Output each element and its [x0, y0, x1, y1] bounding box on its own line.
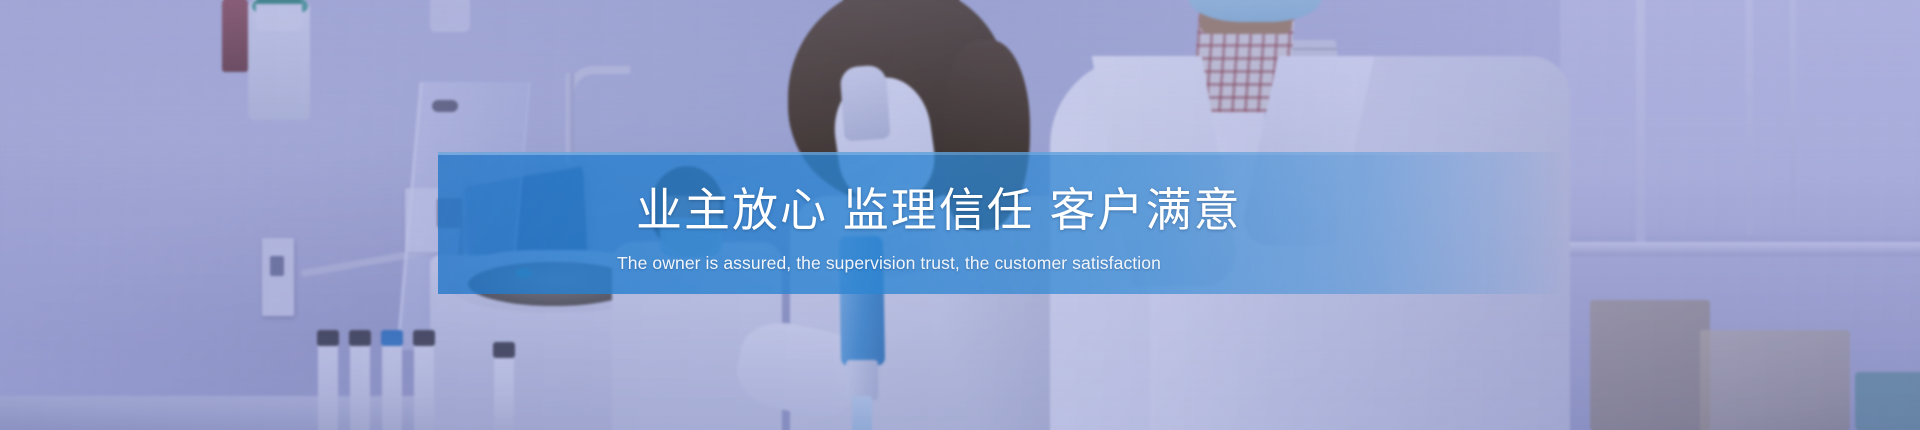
- banner-top-rule: [438, 152, 1568, 155]
- slogan-headline-chinese: 业主放心 监理信任 客户满意: [636, 182, 1242, 238]
- slogan-subhead-english: The owner is assured, the supervision tr…: [617, 250, 1161, 276]
- banner-hero: 业主放心 监理信任 客户满意 The owner is assured, the…: [0, 0, 1920, 430]
